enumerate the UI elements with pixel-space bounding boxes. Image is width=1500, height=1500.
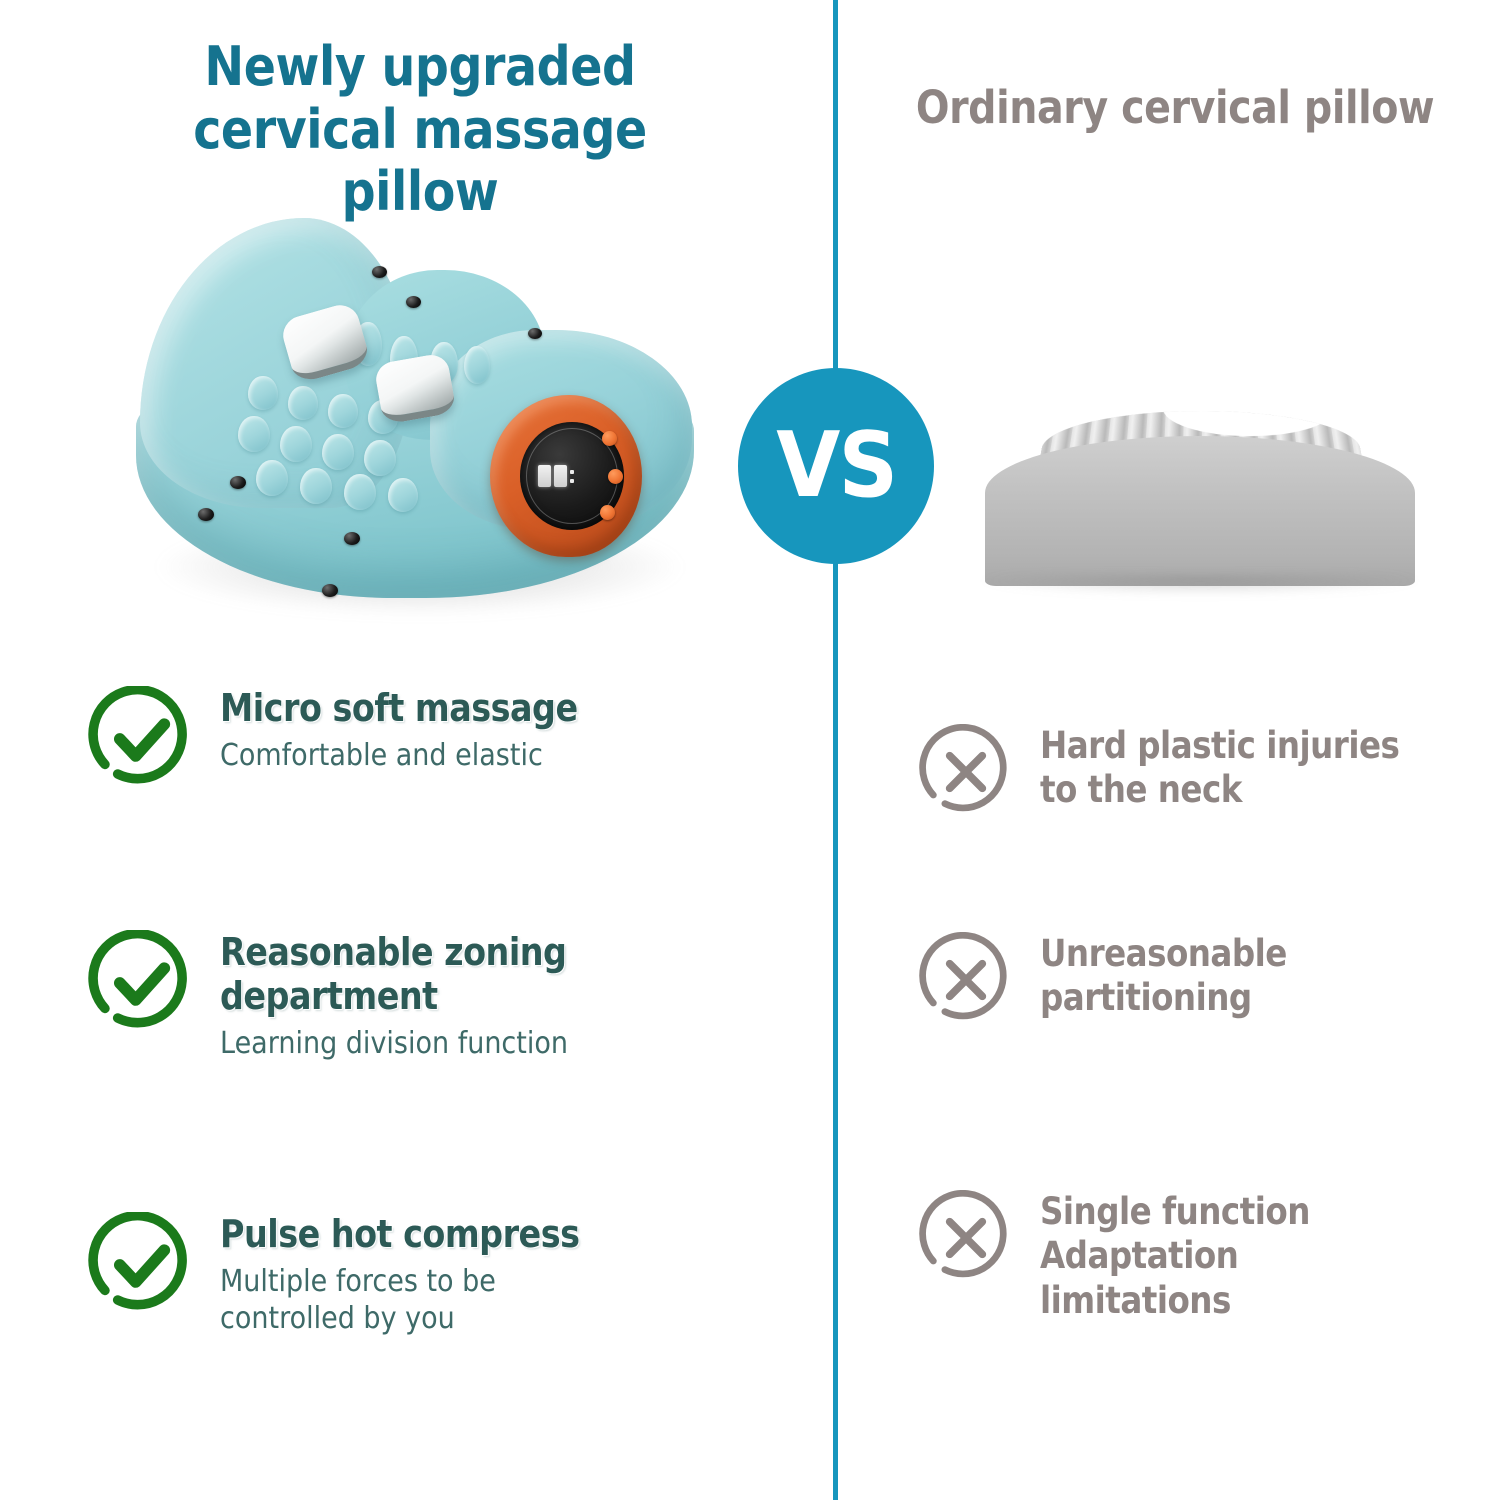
sensor-dot [198, 508, 214, 521]
check-circle-icon-svg [88, 686, 194, 792]
right-column-title: Ordinary cervical pillow [915, 82, 1434, 134]
pillow-base [985, 436, 1415, 586]
massage-nub [388, 478, 418, 512]
sensor-dot [528, 328, 542, 339]
lcd-digit [554, 465, 567, 487]
lcd-digit [538, 465, 551, 487]
product-body [130, 210, 700, 600]
control-panel[interactable] [490, 395, 642, 557]
check-circle-icon [88, 930, 194, 1036]
massage-nub [300, 468, 332, 504]
power-button[interactable] [602, 431, 617, 446]
massage-nub [364, 440, 396, 476]
left-feature-2-texts: Reasonable zoning department Learning di… [220, 930, 728, 1063]
left-feature-1-heading: Micro soft massage [220, 686, 667, 730]
left-product-image [120, 190, 710, 650]
massage-nub [248, 376, 278, 410]
check-circle-icon-svg [88, 1212, 194, 1318]
right-feature-2-texts: Unreasonable partitioning [1040, 932, 1458, 1021]
x-circle-icon-svg [918, 932, 1014, 1028]
left-feature-2: Reasonable zoning department Learning di… [88, 930, 728, 1063]
right-product-image [985, 392, 1415, 592]
sensor-dot [372, 266, 387, 278]
massage-nub [238, 416, 270, 452]
right-feature-1-heading: Hard plastic injuries to the neck [1040, 724, 1408, 813]
check-circle-icon [88, 1212, 194, 1318]
left-feature-2-sub: Learning division function [220, 1026, 677, 1063]
left-feature-3-sub: Multiple forces to be controlled by you [220, 1264, 677, 1337]
comparison-infographic: VS Newly upgraded cervical massage pillo… [0, 0, 1500, 1500]
right-feature-1: Hard plastic injuries to the neck [918, 724, 1458, 820]
check-circle-icon [88, 686, 194, 792]
right-feature-2-heading: Unreasonable partitioning [1040, 932, 1408, 1021]
x-circle-icon-svg [918, 1190, 1014, 1286]
massage-nub [280, 426, 312, 462]
level-button[interactable] [600, 505, 615, 520]
left-feature-2-heading: Reasonable zoning department [220, 930, 667, 1018]
massage-nub [328, 394, 358, 428]
x-circle-icon-svg [918, 724, 1014, 820]
right-feature-3-texts: Single function Adaptation limitations [1040, 1190, 1478, 1323]
right-feature-1-texts: Hard plastic injuries to the neck [1040, 724, 1458, 813]
pillow-shadow [975, 574, 1425, 596]
left-feature-1-sub: Comfortable and elastic [220, 738, 677, 775]
mode-button[interactable] [608, 469, 623, 484]
left-feature-1-texts: Micro soft massage Comfortable and elast… [220, 686, 728, 775]
x-circle-icon [918, 724, 1014, 820]
massage-nub [464, 346, 490, 384]
vs-label: VS [776, 421, 896, 511]
massage-nub [256, 460, 288, 496]
left-feature-3-texts: Pulse hot compress Multiple forces to be… [220, 1212, 728, 1337]
left-feature-1: Micro soft massage Comfortable and elast… [88, 686, 728, 792]
right-feature-3-heading: Single function Adaptation limitations [1040, 1190, 1425, 1323]
lcd-colon [570, 470, 574, 483]
right-feature-2: Unreasonable partitioning [918, 932, 1458, 1028]
x-circle-icon [918, 1190, 1014, 1286]
massage-nub [288, 386, 318, 420]
left-feature-3-heading: Pulse hot compress [220, 1212, 667, 1256]
left-feature-3: Pulse hot compress Multiple forces to be… [88, 1212, 728, 1337]
vertical-divider [833, 0, 838, 1500]
massage-nub [322, 434, 354, 470]
massage-nub [344, 474, 376, 510]
sensor-dot [322, 584, 338, 597]
sensor-dot [230, 476, 246, 489]
vs-badge: VS [738, 368, 934, 564]
sensor-dot [344, 532, 360, 545]
right-feature-3: Single function Adaptation limitations [918, 1190, 1478, 1323]
x-circle-icon [918, 932, 1014, 1028]
sensor-dot [406, 296, 421, 308]
lcd-readout [538, 464, 580, 488]
check-circle-icon-svg [88, 930, 194, 1036]
